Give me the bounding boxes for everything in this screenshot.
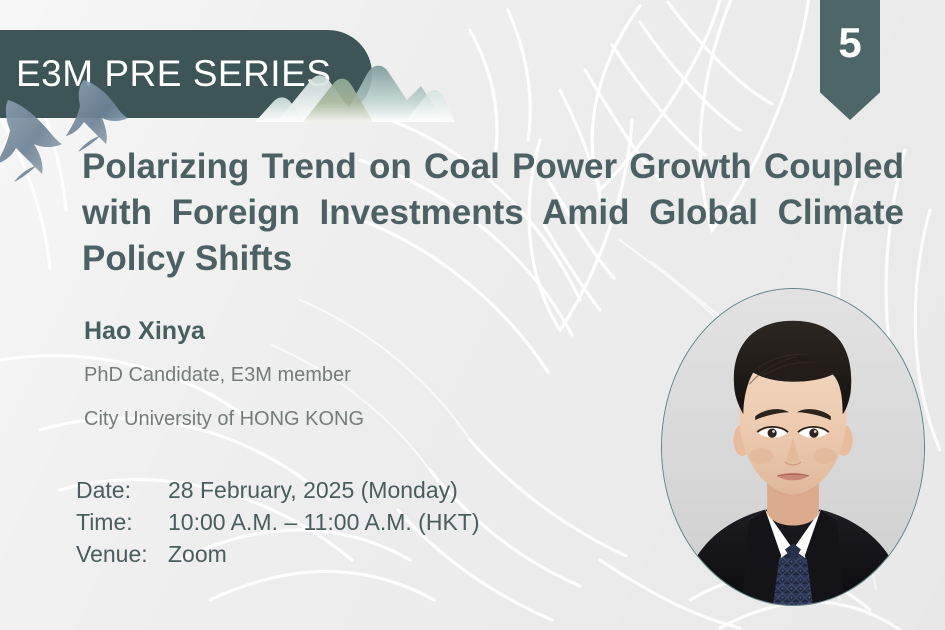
series-banner: E3M PRE SERIES <box>0 30 372 118</box>
time-value: 10:00 A.M. – 11:00 A.M. (HKT) <box>168 506 480 538</box>
episode-number-ribbon: 5 <box>820 0 880 120</box>
time-label: Time: <box>76 506 168 538</box>
speaker-portrait <box>661 288 925 606</box>
detail-row-time: Time: 10:00 A.M. – 11:00 A.M. (HKT) <box>76 506 480 538</box>
seminar-title-text: Polarizing Trend on Coal Power Growth Co… <box>82 147 904 278</box>
venue-label: Venue: <box>76 538 168 570</box>
seminar-title: Polarizing Trend on Coal Power Growth Co… <box>82 144 904 282</box>
detail-row-venue: Venue: Zoom <box>76 538 480 570</box>
date-value: 28 February, 2025 (Monday) <box>168 474 458 506</box>
series-title: E3M PRE SERIES <box>0 53 331 95</box>
date-label: Date: <box>76 474 168 506</box>
speaker-block: Hao Xinya PhD Candidate, E3M member City… <box>84 316 364 434</box>
detail-row-date: Date: 28 February, 2025 (Monday) <box>76 474 480 506</box>
seminar-poster: E3M PRE SERIES <box>0 0 945 630</box>
venue-value: Zoom <box>168 538 227 570</box>
speaker-role: PhD Candidate, E3M member <box>84 360 364 390</box>
speaker-affiliation: City University of HONG KONG <box>84 404 364 434</box>
episode-number: 5 <box>820 22 880 64</box>
speaker-name: Hao Xinya <box>84 316 364 346</box>
event-details: Date: 28 February, 2025 (Monday) Time: 1… <box>76 474 480 570</box>
